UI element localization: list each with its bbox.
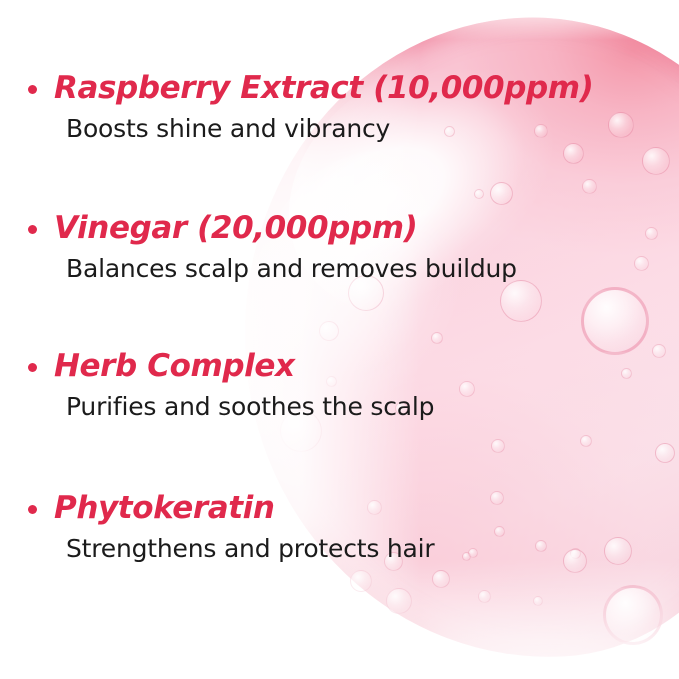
bullet-dot-icon bbox=[28, 225, 37, 234]
ingredient-benefit: Boosts shine and vibrancy bbox=[66, 115, 668, 144]
ingredient-name: Herb Complex bbox=[54, 350, 295, 383]
ingredient-item-phytokeratin: Phytokeratin Strengthens and protects ha… bbox=[28, 492, 668, 563]
ingredient-name: Phytokeratin bbox=[54, 492, 275, 525]
bullet-dot-icon bbox=[28, 85, 37, 94]
bullet-dot-icon bbox=[28, 505, 37, 514]
ingredient-name: Vinegar (20,000ppm) bbox=[54, 212, 417, 245]
ingredient-heading-row: Vinegar (20,000ppm) bbox=[28, 212, 668, 245]
ingredient-benefit: Strengthens and protects hair bbox=[66, 535, 668, 564]
ingredient-item-raspberry-extract: Raspberry Extract (10,000ppm) Boosts shi… bbox=[28, 72, 668, 143]
ingredient-item-vinegar: Vinegar (20,000ppm) Balances scalp and r… bbox=[28, 212, 668, 283]
bullet-dot-icon bbox=[28, 363, 37, 372]
ingredient-item-herb-complex: Herb Complex Purifies and soothes the sc… bbox=[28, 350, 668, 421]
ingredient-callout-graphic: Raspberry Extract (10,000ppm) Boosts shi… bbox=[0, 0, 679, 679]
ingredient-list: Raspberry Extract (10,000ppm) Boosts shi… bbox=[0, 0, 679, 679]
ingredient-name: Raspberry Extract (10,000ppm) bbox=[54, 72, 593, 105]
ingredient-heading-row: Herb Complex bbox=[28, 350, 668, 383]
ingredient-benefit: Balances scalp and removes buildup bbox=[66, 255, 668, 284]
ingredient-heading-row: Raspberry Extract (10,000ppm) bbox=[28, 72, 668, 105]
ingredient-heading-row: Phytokeratin bbox=[28, 492, 668, 525]
ingredient-benefit: Purifies and soothes the scalp bbox=[66, 393, 668, 422]
